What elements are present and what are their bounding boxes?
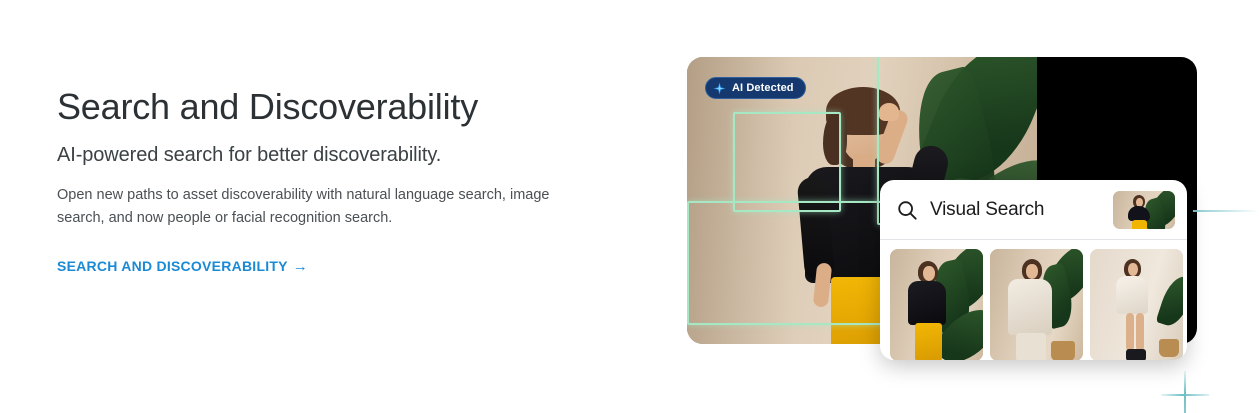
- search-icon: [896, 199, 918, 221]
- result-thumbnail[interactable]: [990, 249, 1083, 360]
- result-thumbnail[interactable]: [1090, 249, 1183, 360]
- page-root: Search and Discoverability AI-powered se…: [0, 0, 1259, 413]
- ai-detected-badge-label: AI Detected: [732, 82, 794, 94]
- visual-search-panel: Visual Search: [880, 180, 1187, 360]
- search-input[interactable]: Visual Search: [930, 199, 1113, 221]
- page-body-text: Open new paths to asset discoverability …: [57, 184, 569, 230]
- arrow-right-icon: →: [293, 258, 308, 275]
- search-and-discoverability-link[interactable]: SEARCH AND DISCOVERABILITY→: [57, 258, 308, 275]
- query-thumbnail[interactable]: [1113, 191, 1175, 229]
- page-subtitle: AI-powered search for better discoverabi…: [57, 142, 617, 168]
- visual-search-bar[interactable]: Visual Search: [880, 180, 1187, 240]
- result-thumbnail[interactable]: [890, 249, 983, 360]
- sparkle-icon: [713, 82, 726, 95]
- guide-line: [1193, 210, 1259, 212]
- copy-block: Search and Discoverability AI-powered se…: [57, 84, 617, 276]
- ai-detected-badge: AI Detected: [705, 77, 806, 99]
- crosshair-marker: [1161, 371, 1209, 413]
- visual-search-results: [880, 240, 1187, 360]
- page-title: Search and Discoverability: [57, 84, 617, 130]
- cta-label: SEARCH AND DISCOVERABILITY: [57, 258, 288, 274]
